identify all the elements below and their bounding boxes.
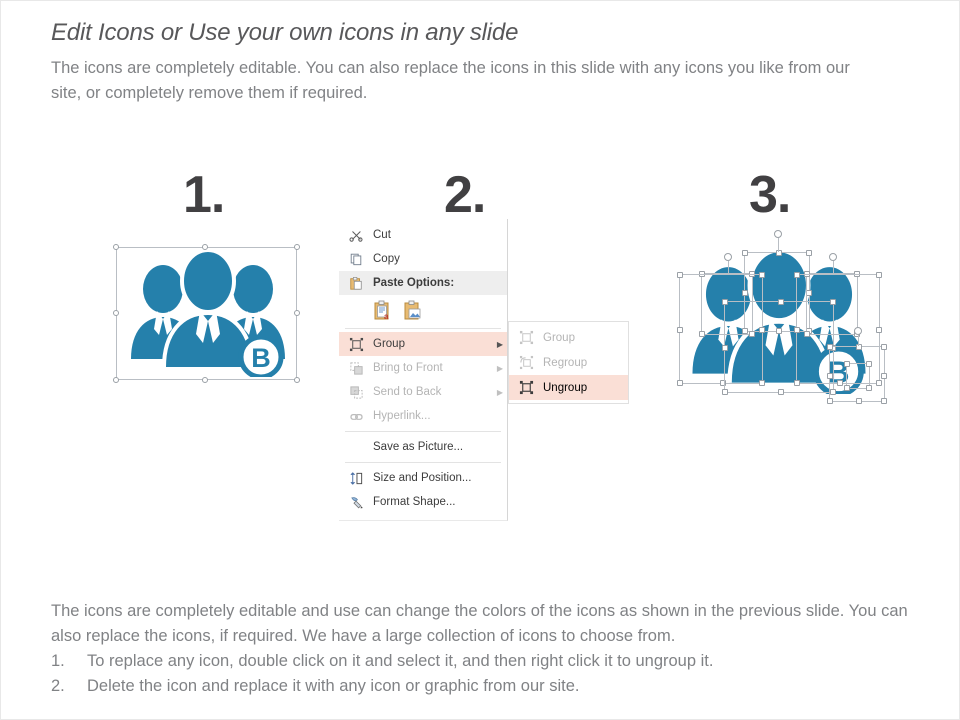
menu-separator [345, 431, 501, 432]
selection-handle-n[interactable] [778, 299, 784, 305]
selection-handle-nw[interactable] [794, 272, 800, 278]
context-menu-label-save-as-picture: Save as Picture... [373, 441, 493, 453]
context-menu-label-send-to-back: Send to Back [373, 386, 493, 398]
context-menu-label-cut: Cut [373, 229, 493, 241]
svg-text:a: a [384, 312, 389, 321]
context-menu-item-hyperlink[interactable]: Hyperlink... [339, 404, 507, 428]
context-menu-label-group: Group [373, 338, 493, 350]
context-menu-label-bring-to-front: Bring to Front [373, 362, 493, 374]
submenu-item-group[interactable]: Group [509, 325, 628, 350]
slide-canvas: Edit Icons or Use your own icons in any … [0, 0, 960, 720]
footer-block: The icons are completely editable and us… [51, 599, 941, 699]
selection-handle-nw[interactable] [827, 344, 833, 350]
selection-handle-se[interactable] [866, 385, 872, 391]
list-item-text: Delete the icon and replace it with any … [87, 674, 580, 699]
context-menu-item-save-as-picture[interactable]: Save as Picture... [339, 435, 507, 459]
selection-handle-ne[interactable] [830, 299, 836, 305]
page-subtitle: The icons are completely editable. You c… [51, 56, 881, 106]
no-icon-placeholder [345, 438, 367, 456]
context-menu-item-send-to-back[interactable]: Send to Back ▶ [339, 380, 507, 404]
list-item: 2. Delete the icon and replace it with a… [51, 674, 941, 699]
selection-handle-se[interactable] [294, 377, 300, 383]
selection-handle-w[interactable] [827, 373, 833, 379]
rotation-handle[interactable] [774, 230, 782, 238]
rotation-stem [858, 335, 859, 346]
selection-handle-nw[interactable] [677, 272, 683, 278]
selection-handle-e[interactable] [294, 310, 300, 316]
group-icon [515, 329, 537, 347]
selection-handle-nw[interactable] [113, 244, 119, 250]
rotation-handle[interactable] [854, 327, 862, 335]
rotation-stem [778, 238, 779, 252]
submenu-item-regroup[interactable]: Regroup [509, 350, 628, 375]
selection-handle-s[interactable] [778, 389, 784, 395]
selection-handle-n[interactable] [776, 250, 782, 256]
rotation-stem [833, 261, 834, 273]
submenu-arrow-bring-to-front: ▶ [493, 364, 507, 373]
selection-handle-ne[interactable] [876, 272, 882, 278]
selection-handle-ne[interactable] [881, 344, 887, 350]
submenu-label-ungroup: Ungroup [543, 382, 628, 394]
copy-icon [345, 250, 367, 268]
step-number-2: 2. [444, 169, 485, 221]
context-menu-item-bring-to-front[interactable]: Bring to Front ▶ [339, 356, 507, 380]
list-item-number: 1. [51, 649, 87, 674]
send-to-back-icon [345, 383, 367, 401]
context-menu-label-size-and-position: Size and Position... [373, 472, 493, 484]
rotation-stem [728, 261, 729, 273]
context-menu-item-size-and-position[interactable]: Size and Position... [339, 466, 507, 490]
selection-handle-w[interactable] [677, 327, 683, 333]
format-shape-icon [345, 493, 367, 511]
submenu-label-regroup: Regroup [543, 357, 628, 369]
selection-handle-ne[interactable] [759, 272, 765, 278]
selection-handle-nw[interactable] [722, 299, 728, 305]
context-menu-label-paste-options: Paste Options: [373, 277, 493, 289]
context-menu-item-copy[interactable]: Copy [339, 247, 507, 271]
context-menu-item-paste-options: Paste Options: [339, 271, 507, 295]
menu-separator [345, 328, 501, 329]
selection-handle-nw[interactable] [742, 250, 748, 256]
context-menu-label-copy: Copy [373, 253, 493, 265]
selection-handle-nw[interactable] [844, 361, 850, 367]
page-title: Edit Icons or Use your own icons in any … [51, 19, 518, 47]
step-number-1: 1. [183, 169, 224, 221]
selection-handle-e[interactable] [876, 327, 882, 333]
paste-icon [345, 274, 367, 292]
paste-options-row[interactable]: a [339, 295, 507, 325]
selection-box-shape-center-body[interactable] [724, 301, 834, 393]
paste-keep-text-icon[interactable]: a [373, 300, 393, 321]
footer-instruction-list: 1. To replace any icon, double click on … [51, 649, 941, 699]
context-menu-item-cut[interactable]: Cut [339, 223, 507, 247]
list-item-text: To replace any icon, double click on it … [87, 649, 713, 674]
size-and-position-icon [345, 469, 367, 487]
rotation-handle[interactable] [724, 253, 732, 261]
group-icon [345, 335, 367, 353]
list-item: 1. To replace any icon, double click on … [51, 649, 941, 674]
selection-handle-e[interactable] [881, 373, 887, 379]
selection-handle-ne[interactable] [806, 250, 812, 256]
selection-box-grouped[interactable] [116, 247, 297, 380]
selection-handle-sw[interactable] [844, 385, 850, 391]
selection-handle-w[interactable] [113, 310, 119, 316]
selection-handle-ne[interactable] [294, 244, 300, 250]
selection-handle-s[interactable] [856, 398, 862, 404]
regroup-icon [515, 354, 537, 372]
selection-handle-se[interactable] [881, 398, 887, 404]
submenu-item-ungroup[interactable]: Ungroup [509, 375, 628, 400]
selection-handle-sw[interactable] [827, 398, 833, 404]
selection-handle-sw[interactable] [722, 389, 728, 395]
hyperlink-icon [345, 407, 367, 425]
selection-handle-s[interactable] [202, 377, 208, 383]
context-menu-item-group[interactable]: Group ▶ [339, 332, 507, 356]
group-submenu[interactable]: Group Regroup [508, 321, 629, 404]
context-menu[interactable]: Cut Copy Paste Options: [339, 219, 508, 521]
context-menu-label-hyperlink: Hyperlink... [373, 410, 493, 422]
context-menu-item-format-shape[interactable]: Format Shape... [339, 490, 507, 514]
list-item-number: 2. [51, 674, 87, 699]
submenu-arrow-send-to-back: ▶ [493, 388, 507, 397]
ungroup-icon [515, 379, 537, 397]
submenu-arrow-group: ▶ [493, 340, 507, 349]
paste-picture-icon[interactable] [403, 300, 423, 321]
context-menu-label-format-shape: Format Shape... [373, 496, 493, 508]
selection-handle-ne[interactable] [866, 361, 872, 367]
selection-handle-w[interactable] [722, 345, 728, 351]
submenu-label-group: Group [543, 332, 628, 344]
footer-paragraph: The icons are completely editable and us… [51, 599, 941, 649]
bring-to-front-icon [345, 359, 367, 377]
scissors-icon [345, 226, 367, 244]
selection-handle-sw[interactable] [113, 377, 119, 383]
menu-separator [345, 462, 501, 463]
selection-box-shape-badge-letter[interactable] [846, 363, 870, 389]
step-number-3: 3. [749, 169, 790, 221]
selection-handle-sw[interactable] [677, 380, 683, 386]
selection-handle-n[interactable] [202, 244, 208, 250]
selection-handle-n[interactable] [856, 344, 862, 350]
rotation-handle[interactable] [829, 253, 837, 261]
